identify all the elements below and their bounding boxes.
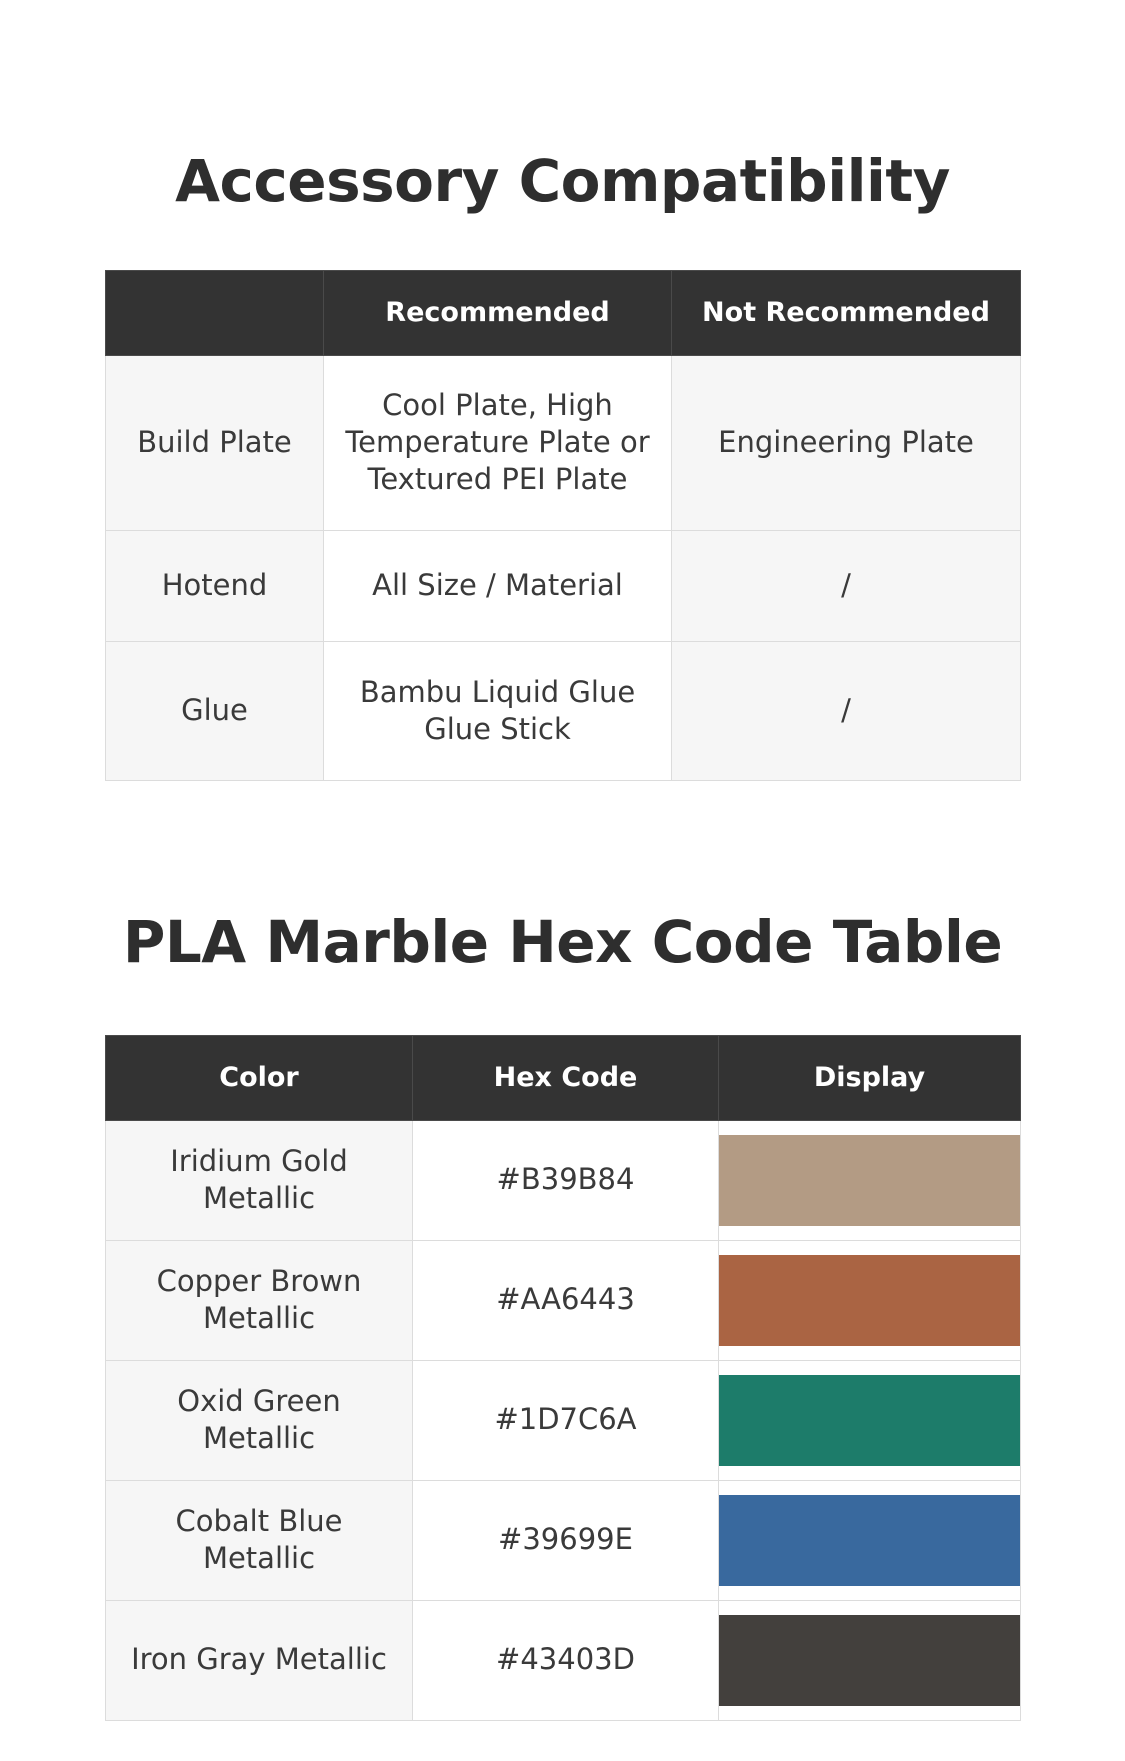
table-header-row: Recommended Not Recommended [106, 270, 1021, 355]
page-title-pla-marble-hex-code-table: PLA Marble Hex Code Table [0, 820, 1125, 973]
table-row: Iridium Gold Metallic #B39B84 [106, 1120, 1021, 1240]
hex-code-iridium-gold: #B39B84 [413, 1120, 719, 1240]
hex-table-wrapper: Color Hex Code Display Iridium Gold Meta… [105, 1035, 1020, 1721]
accessory-recommended-hotend: All Size / Material [324, 530, 672, 641]
accessory-recommended-build-plate: Cool Plate, High Temperature Plate or Te… [324, 355, 672, 530]
table-row: Cobalt Blue Metallic #39699E [106, 1480, 1021, 1600]
accessory-not-recommended-hotend: / [672, 530, 1021, 641]
pla-marble-hex-code-table: Color Hex Code Display Iridium Gold Meta… [105, 1035, 1021, 1721]
table-row: Glue Bambu Liquid Glue Glue Stick / [106, 641, 1021, 780]
hex-display-cell-iridium-gold [719, 1120, 1021, 1240]
accessory-compatibility-table: Recommended Not Recommended Build Plate … [105, 270, 1021, 781]
table-row: Build Plate Cool Plate, High Temperature… [106, 355, 1021, 530]
accessory-table-wrapper: Recommended Not Recommended Build Plate … [105, 270, 1020, 781]
hex-color-name-copper-brown: Copper Brown Metallic [106, 1240, 413, 1360]
accessory-not-recommended-build-plate: Engineering Plate [672, 355, 1021, 530]
accessory-row-label-build-plate: Build Plate [106, 355, 324, 530]
hex-color-name-cobalt-blue: Cobalt Blue Metallic [106, 1480, 413, 1600]
hex-code-oxid-green: #1D7C6A [413, 1360, 719, 1480]
accessory-table-body: Build Plate Cool Plate, High Temperature… [106, 355, 1021, 780]
accessory-row-label-hotend: Hotend [106, 530, 324, 641]
page-root: Accessory Compatibility Recommended Not … [0, 39, 1125, 1761]
hex-color-name-iron-gray: Iron Gray Metallic [106, 1600, 413, 1720]
table-row: Iron Gray Metallic #43403D [106, 1600, 1021, 1720]
hex-code-iron-gray: #43403D [413, 1600, 719, 1720]
hex-code-copper-brown: #AA6443 [413, 1240, 719, 1360]
table-row: Oxid Green Metallic #1D7C6A [106, 1360, 1021, 1480]
table-row: Copper Brown Metallic #AA6443 [106, 1240, 1021, 1360]
hex-display-cell-oxid-green [719, 1360, 1021, 1480]
color-swatch-iron-gray [719, 1615, 1020, 1706]
hex-table-head: Color Hex Code Display [106, 1035, 1021, 1120]
accessory-not-recommended-glue: / [672, 641, 1021, 780]
hex-color-name-iridium-gold: Iridium Gold Metallic [106, 1120, 413, 1240]
hex-display-cell-copper-brown [719, 1240, 1021, 1360]
color-swatch-iridium-gold [719, 1135, 1020, 1226]
hex-header-hex-code: Hex Code [413, 1035, 719, 1120]
accessory-row-label-glue: Glue [106, 641, 324, 780]
color-swatch-copper-brown [719, 1255, 1020, 1346]
hex-header-color: Color [106, 1035, 413, 1120]
page-title-accessory-compatibility: Accessory Compatibility [0, 39, 1125, 212]
hex-display-cell-iron-gray [719, 1600, 1021, 1720]
hex-table-body: Iridium Gold Metallic #B39B84 Copper Bro… [106, 1120, 1021, 1720]
hex-display-cell-cobalt-blue [719, 1480, 1021, 1600]
hex-header-display: Display [719, 1035, 1021, 1120]
accessory-table-head: Recommended Not Recommended [106, 270, 1021, 355]
table-header-row: Color Hex Code Display [106, 1035, 1021, 1120]
color-swatch-cobalt-blue [719, 1495, 1020, 1586]
accessory-header-blank [106, 270, 324, 355]
color-swatch-oxid-green [719, 1375, 1020, 1466]
hex-color-name-oxid-green: Oxid Green Metallic [106, 1360, 413, 1480]
accessory-header-recommended: Recommended [324, 270, 672, 355]
table-row: Hotend All Size / Material / [106, 530, 1021, 641]
accessory-recommended-glue: Bambu Liquid Glue Glue Stick [324, 641, 672, 780]
hex-code-cobalt-blue: #39699E [413, 1480, 719, 1600]
accessory-header-not-recommended: Not Recommended [672, 270, 1021, 355]
